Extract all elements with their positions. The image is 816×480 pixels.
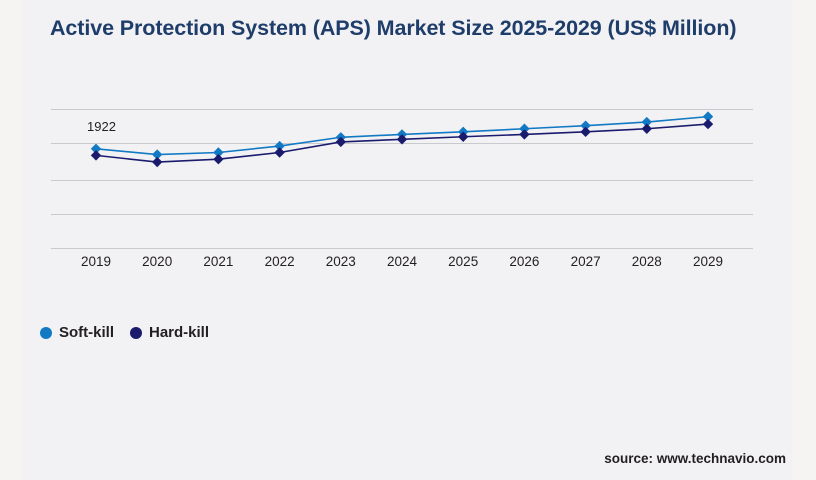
marker-hard-2028 bbox=[642, 124, 652, 134]
data-label-1922: 1922 bbox=[87, 119, 116, 134]
x-tick-label-2025: 2025 bbox=[448, 254, 478, 269]
marker-hard-2029 bbox=[703, 119, 713, 129]
marker-hard-2019 bbox=[91, 150, 101, 160]
marker-hard-2022 bbox=[274, 147, 284, 157]
x-tick-label-2029: 2029 bbox=[693, 254, 723, 269]
chart-title: Active Protection System (APS) Market Si… bbox=[50, 14, 750, 43]
marker-hard-2021 bbox=[213, 154, 223, 164]
series-plot bbox=[51, 105, 753, 253]
x-tick-label-2027: 2027 bbox=[571, 254, 601, 269]
x-tick-label-2019: 2019 bbox=[81, 254, 111, 269]
series-layer bbox=[51, 105, 753, 253]
plot-area: 1922 bbox=[51, 105, 753, 253]
x-tick-label-2023: 2023 bbox=[326, 254, 356, 269]
marker-hard-2027 bbox=[580, 127, 590, 137]
legend-item-soft-kill[interactable]: Soft-kill bbox=[40, 324, 114, 341]
x-tick-label-2024: 2024 bbox=[387, 254, 417, 269]
legend-marker-icon bbox=[130, 327, 142, 339]
x-tick-label-2026: 2026 bbox=[509, 254, 539, 269]
x-tick-label-2020: 2020 bbox=[142, 254, 172, 269]
x-tick-label-2022: 2022 bbox=[265, 254, 295, 269]
legend-label: Soft-kill bbox=[59, 324, 114, 341]
source-note: source: www.technavio.com bbox=[604, 451, 786, 466]
legend-label: Hard-kill bbox=[149, 324, 209, 341]
x-tick-label-2028: 2028 bbox=[632, 254, 662, 269]
legend-marker-icon bbox=[40, 327, 52, 339]
left-edge-band bbox=[0, 0, 22, 480]
right-edge-band bbox=[792, 0, 816, 480]
chart-page: Active Protection System (APS) Market Si… bbox=[0, 0, 816, 480]
x-tick-label-2021: 2021 bbox=[203, 254, 233, 269]
chart-legend: Soft-killHard-kill bbox=[40, 324, 209, 341]
marker-hard-2020 bbox=[152, 157, 162, 167]
marker-hard-2026 bbox=[519, 129, 529, 139]
legend-item-hard-kill[interactable]: Hard-kill bbox=[130, 324, 209, 341]
x-axis-labels: 2019202020212022202320242025202620272028… bbox=[51, 254, 753, 276]
